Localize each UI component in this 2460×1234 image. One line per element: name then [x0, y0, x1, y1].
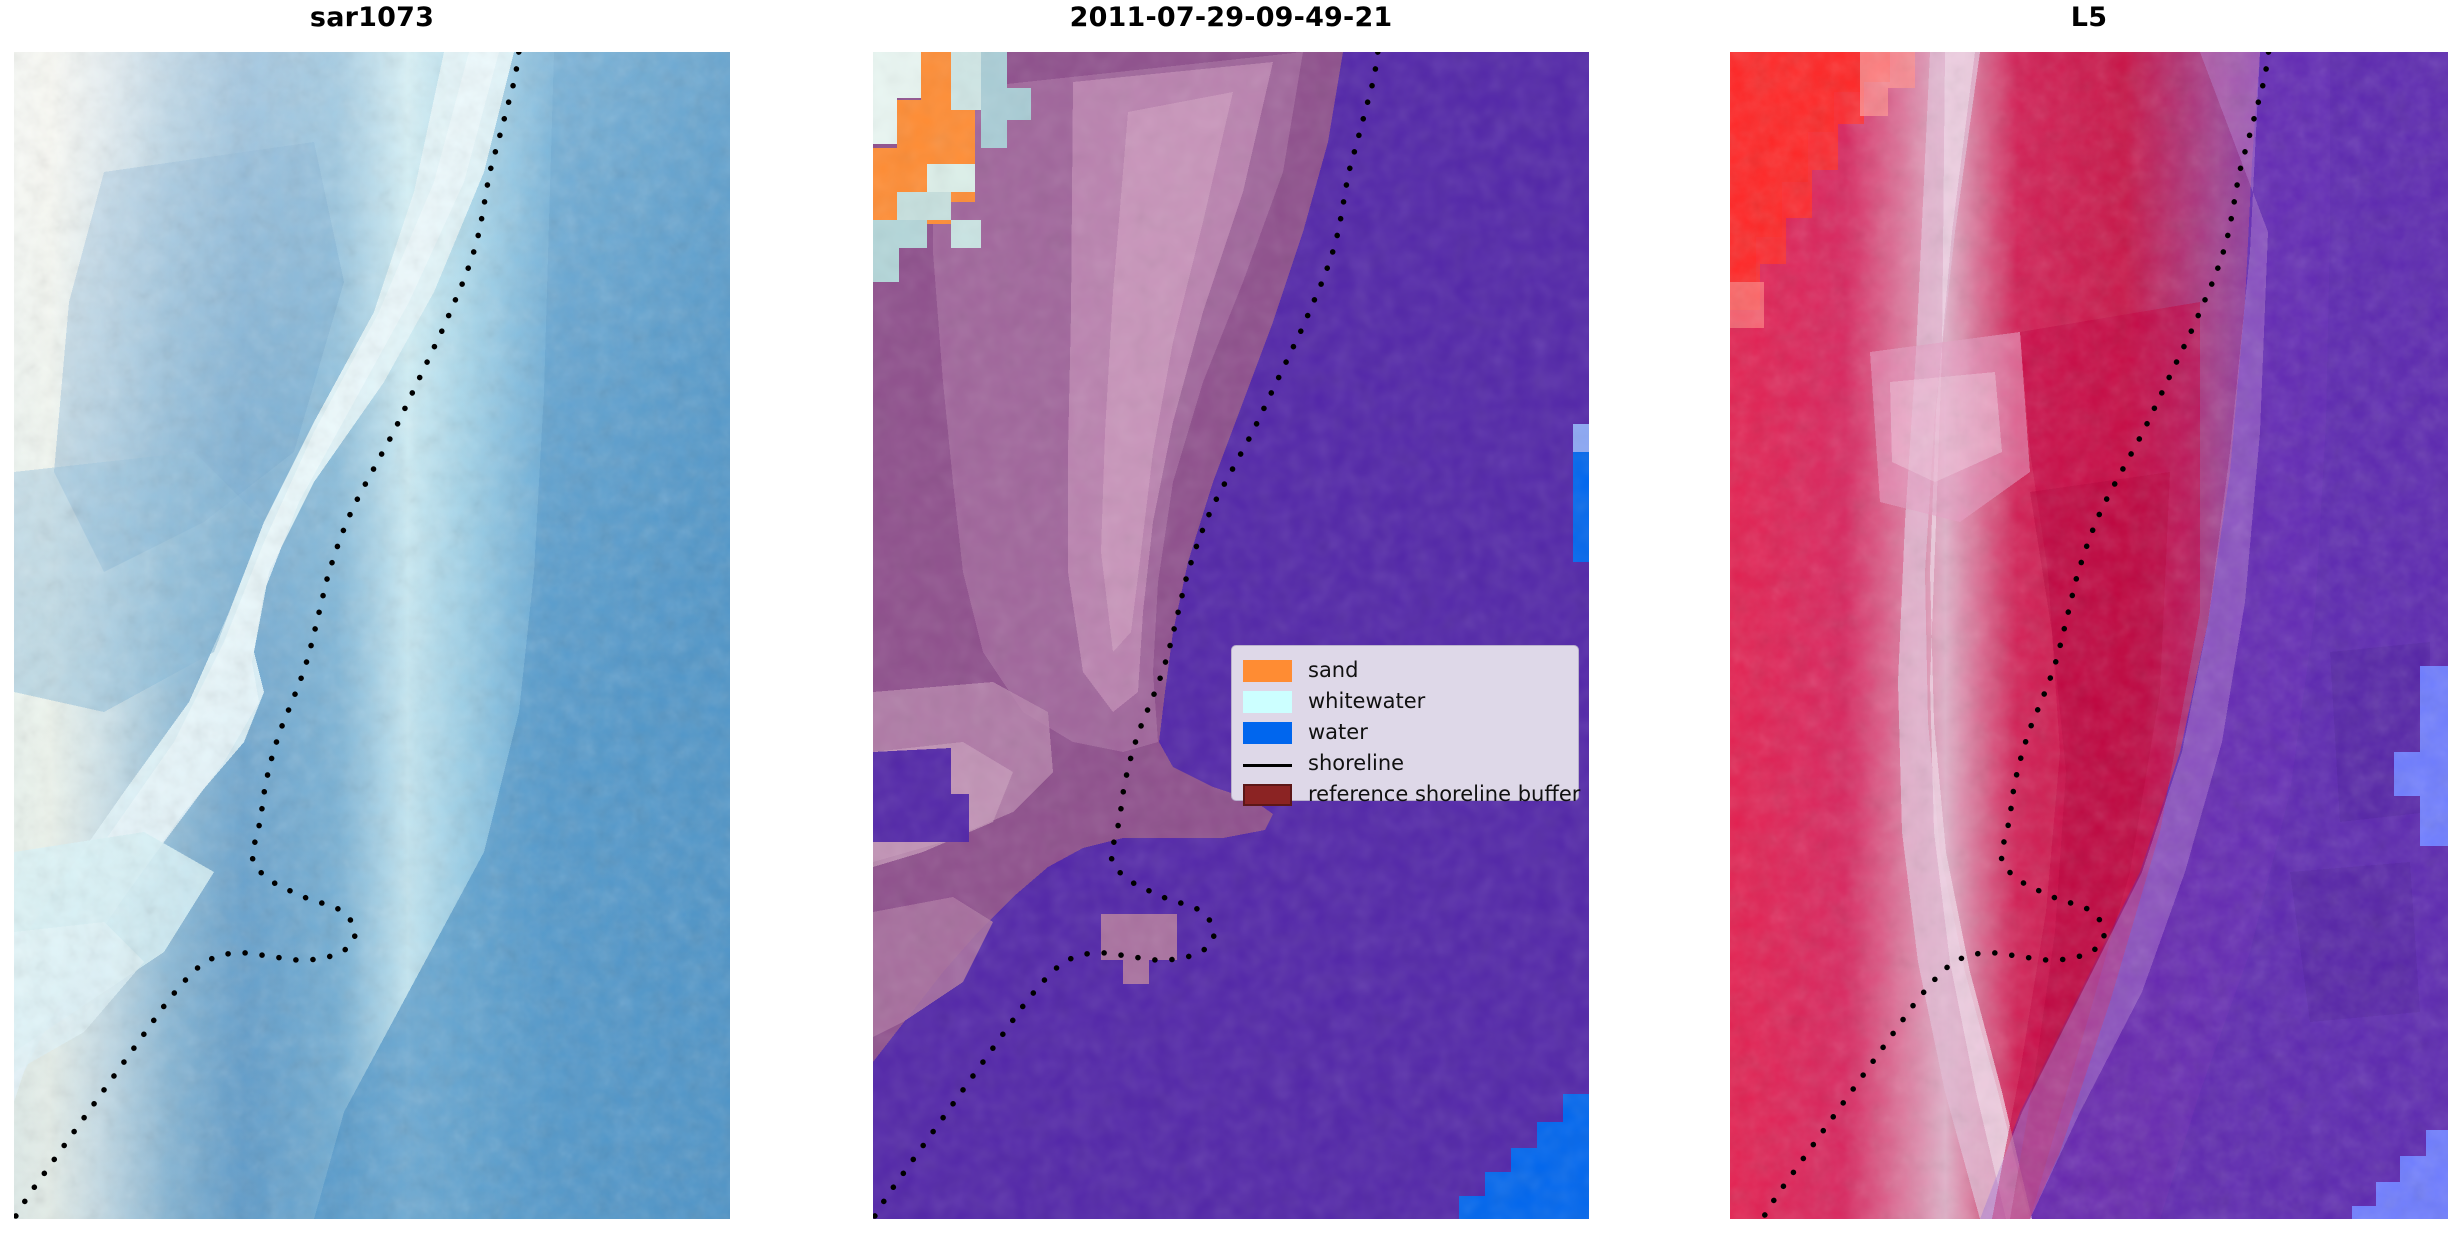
legend-item-sand[interactable]: sand — [1243, 655, 1567, 686]
reference-shoreline-buffer-swatch — [1243, 784, 1292, 806]
whitewater-swatch — [1243, 691, 1292, 713]
legend-item-shoreline[interactable]: shoreline — [1243, 748, 1567, 779]
legend-label-shoreline: shoreline — [1308, 753, 1404, 774]
panel-title-l5: L5 — [1730, 2, 2448, 33]
water-swatch — [1243, 722, 1292, 744]
legend-item-whitewater[interactable]: whitewater — [1243, 686, 1567, 717]
legend-item-reference-shoreline-buffer[interactable]: reference shoreline buffer — [1243, 779, 1567, 810]
figure-root: sar1073 2011-07-29-09-49-21 L5 — [0, 0, 2460, 1234]
classification-image — [873, 52, 1589, 1219]
legend-item-water[interactable]: water — [1243, 717, 1567, 748]
sand-swatch — [1243, 660, 1292, 682]
legend-label-water: water — [1308, 722, 1368, 743]
sar-raster — [14, 52, 730, 1219]
sar-image — [14, 52, 730, 1219]
panel-title-classification: 2011-07-29-09-49-21 — [873, 2, 1589, 33]
legend-label-reference-shoreline-buffer: reference shoreline buffer — [1308, 784, 1580, 805]
classification-raster — [873, 52, 1589, 1219]
l5-raster — [1730, 52, 2448, 1219]
shoreline-line-swatch — [1243, 753, 1292, 775]
legend-label-sand: sand — [1308, 660, 1358, 681]
panel-classification[interactable] — [873, 52, 1589, 1219]
panel-l5[interactable] — [1730, 52, 2448, 1219]
legend[interactable]: sand whitewater water shoreline referenc… — [1231, 645, 1579, 801]
l5-image — [1730, 52, 2448, 1219]
panel-sar[interactable] — [14, 52, 730, 1219]
legend-label-whitewater: whitewater — [1308, 691, 1425, 712]
panel-title-sar: sar1073 — [14, 2, 730, 33]
